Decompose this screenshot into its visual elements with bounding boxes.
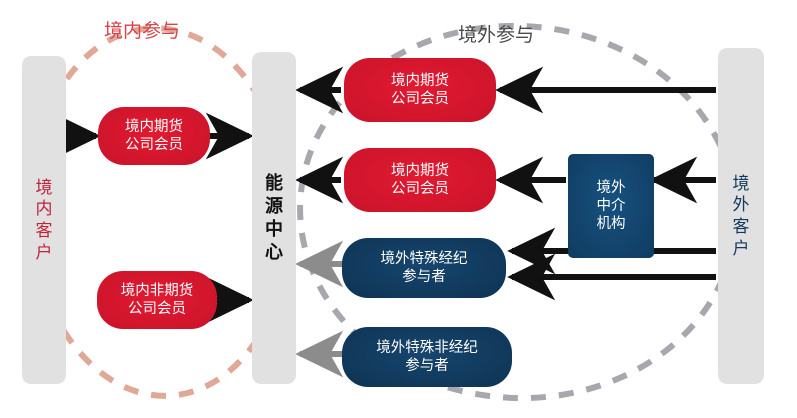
- pillar-energy-center-char-1: 源: [265, 195, 283, 218]
- pillar-overseas-clients: 境 外 客 户: [718, 48, 764, 384]
- pillar-energy-center-char-2: 中: [265, 218, 283, 241]
- node-overseas-special-broker[interactable]: 境外特殊经纪 参与者: [342, 238, 506, 298]
- label-overseas-participation: 境外参与: [458, 20, 534, 47]
- node-domestic-futures-member-left-line-1: 公司会员: [125, 136, 183, 154]
- pillar-domestic-clients-char-0: 境: [36, 177, 53, 199]
- node-domestic-futures-member-left-line-0: 境内期货: [125, 118, 183, 136]
- node-overseas-intermediary-line-0: 境外: [597, 179, 626, 197]
- node-domestic-nonfutures-member-left-line-1: 公司会员: [128, 300, 186, 318]
- node-overseas-intermediary[interactable]: 境外 中介 机构: [568, 154, 654, 258]
- pillar-domestic-clients-char-2: 客: [36, 220, 53, 242]
- pillar-overseas-clients-char-3: 户: [733, 238, 750, 260]
- node-domestic-futures-member-top-right[interactable]: 境内期货 公司会员: [344, 58, 496, 122]
- node-overseas-special-nonbroker[interactable]: 境外特殊非经纪 参与者: [342, 327, 512, 387]
- node-domestic-nonfutures-member-left-line-0: 境内非期货: [121, 282, 194, 300]
- node-overseas-special-broker-line-0: 境外特殊经纪: [381, 250, 468, 268]
- node-domestic-futures-member-top-right-line-1: 公司会员: [391, 90, 449, 108]
- node-overseas-special-nonbroker-line-1: 参与者: [405, 357, 449, 375]
- node-domestic-futures-member-left[interactable]: 境内期货 公司会员: [98, 107, 210, 165]
- pillar-energy-center: 能 源 中 心: [252, 52, 296, 384]
- diagram-canvas: 境 内 客 户 能 源 中 心 境 外 客 户 境内参与 境外参与 境内期货 公…: [0, 0, 797, 418]
- node-overseas-special-broker-line-1: 参与者: [402, 268, 446, 286]
- node-overseas-intermediary-line-2: 机构: [597, 215, 626, 233]
- pillar-energy-center-char-0: 能: [265, 172, 283, 195]
- node-domestic-futures-member-mid-right-line-0: 境内期货: [391, 162, 449, 180]
- pillar-domestic-clients-char-3: 户: [36, 242, 53, 264]
- node-domestic-futures-member-mid-right-line-1: 公司会员: [391, 180, 449, 198]
- pillar-energy-center-char-3: 心: [265, 241, 283, 264]
- node-domestic-futures-member-top-right-line-0: 境内期货: [391, 72, 449, 90]
- node-domestic-nonfutures-member-left[interactable]: 境内非期货 公司会员: [97, 271, 217, 329]
- node-overseas-intermediary-line-1: 中介: [597, 197, 626, 215]
- label-domestic-participation-text: 境内参与: [104, 21, 180, 42]
- pillar-domestic-clients-char-1: 内: [36, 198, 53, 220]
- node-domestic-futures-member-mid-right[interactable]: 境内期货 公司会员: [344, 148, 496, 212]
- pillar-overseas-clients-char-0: 境: [733, 173, 750, 195]
- node-overseas-special-nonbroker-line-0: 境外特殊非经纪: [376, 339, 478, 357]
- label-overseas-participation-text: 境外参与: [458, 25, 534, 46]
- pillar-overseas-clients-char-2: 客: [733, 216, 750, 238]
- pillar-domestic-clients: 境 内 客 户: [22, 56, 66, 384]
- label-domestic-participation: 境内参与: [104, 16, 180, 43]
- pillar-overseas-clients-char-1: 外: [733, 194, 750, 216]
